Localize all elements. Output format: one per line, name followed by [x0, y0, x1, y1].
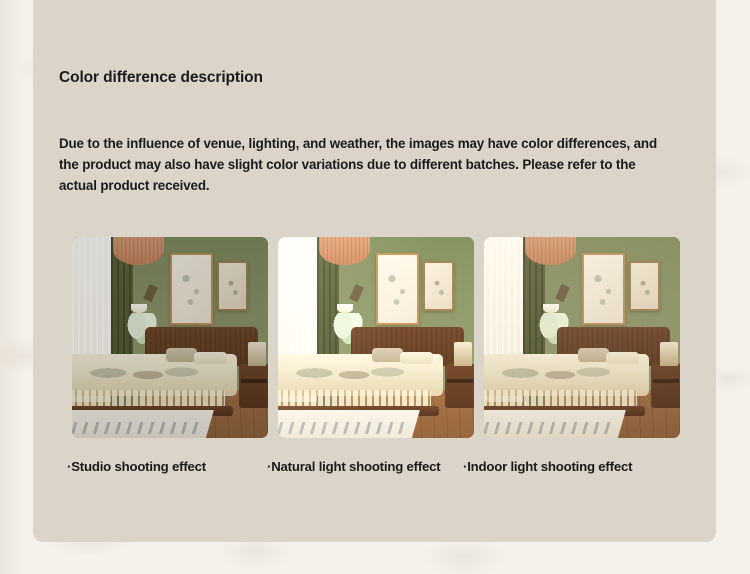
table-lamp-icon — [248, 342, 266, 366]
pillow — [606, 352, 639, 364]
area-rug — [484, 410, 626, 438]
caption-natural-light-shooting-effect: ·Natural light shooting effect — [267, 459, 441, 474]
framed-art-small — [629, 261, 660, 311]
area-rug — [278, 410, 420, 438]
bedroom-scene-image — [484, 237, 680, 438]
gallery-captions: ·Studio shooting effect ·Natural light s… — [67, 459, 692, 479]
wall-sconce-icon — [337, 285, 362, 313]
caption-studio-shooting-effect: ·Studio shooting effect — [67, 459, 206, 474]
photo-natural-light-shooting-effect[interactable] — [278, 237, 474, 438]
color-difference-description: Due to the influence of venue, lighting,… — [59, 134, 667, 197]
color-difference-card: Color difference description Due to the … — [33, 0, 716, 542]
pillow — [194, 352, 227, 364]
framed-art-small — [423, 261, 454, 311]
table-lamp-icon — [660, 342, 678, 366]
framed-art-large — [376, 253, 419, 325]
pillow — [400, 352, 433, 364]
bedroom-scene-image — [278, 237, 474, 438]
caption-indoor-light-shooting-effect: ·Indoor light shooting effect — [463, 459, 632, 474]
page-background: Color difference description Due to the … — [0, 0, 750, 574]
wall-sconce-icon — [131, 285, 156, 313]
pillow — [578, 348, 609, 362]
framed-art-small — [217, 261, 248, 311]
framed-art-large — [582, 253, 625, 325]
nightstand — [239, 364, 268, 408]
page-title: Color difference description — [59, 68, 359, 88]
table-lamp-icon — [454, 342, 472, 366]
pillow — [372, 348, 403, 362]
nightstand — [651, 364, 680, 408]
pillow — [166, 348, 197, 362]
nightstand — [445, 364, 474, 408]
framed-art-large — [170, 253, 213, 325]
shooting-effect-gallery — [72, 237, 680, 438]
wall-sconce-icon — [543, 285, 568, 313]
bedroom-scene-image — [72, 237, 268, 438]
area-rug — [72, 410, 214, 438]
photo-studio-shooting-effect[interactable] — [72, 237, 268, 438]
photo-indoor-light-shooting-effect[interactable] — [484, 237, 680, 438]
